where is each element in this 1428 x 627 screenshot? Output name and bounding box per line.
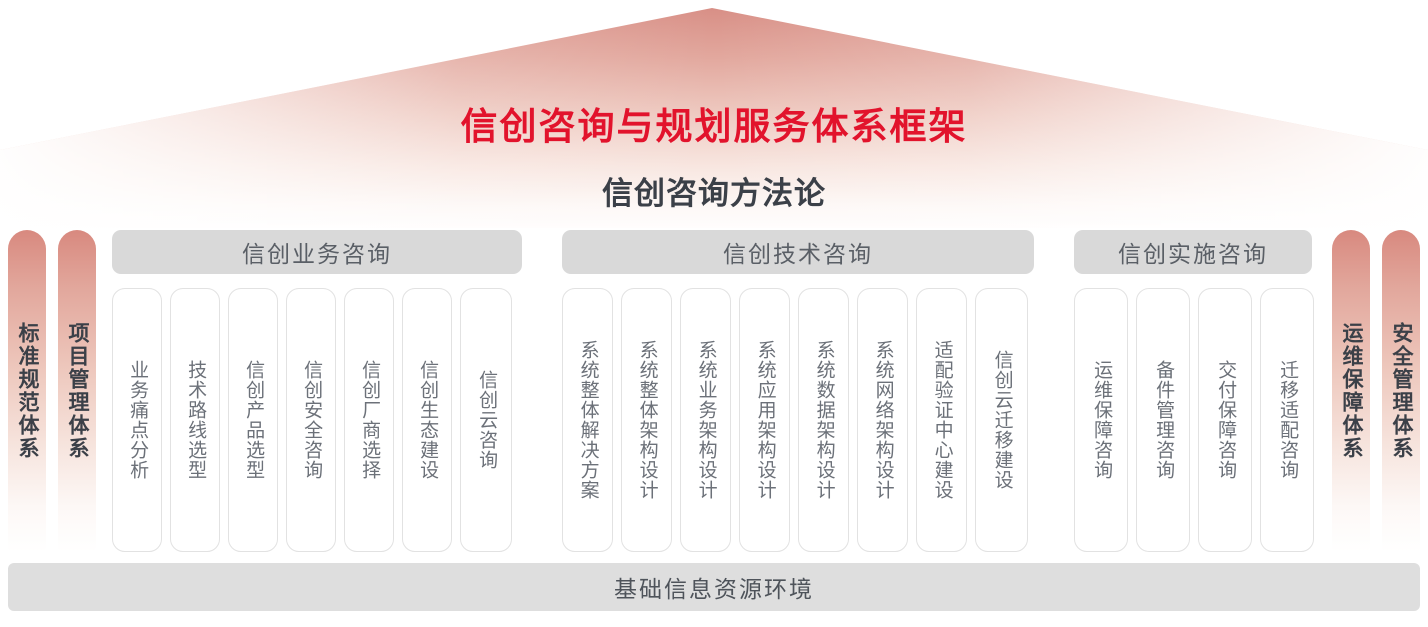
card-label: 系统数据架构设计: [813, 340, 833, 500]
card-label: 适配验证中心建设: [931, 340, 951, 500]
card-item[interactable]: 适配验证中心建设: [916, 288, 967, 552]
card-label: 信创云咨询: [476, 370, 496, 470]
card-item[interactable]: 系统应用架构设计: [739, 288, 790, 552]
card-label: 迁移适配咨询: [1277, 360, 1297, 480]
page-title: 信创咨询与规划服务体系框架: [0, 96, 1428, 150]
card-item[interactable]: 交付保障咨询: [1198, 288, 1252, 552]
group-technical-consulting: 信创技术咨询 系统整体解决方案 系统整体架构设计 系统业务架构设计 系统应用架构…: [562, 230, 1034, 274]
pillar-label: 标准规范体系: [16, 322, 38, 460]
group-header[interactable]: 信创实施咨询: [1074, 230, 1312, 274]
card-item[interactable]: 备件管理咨询: [1136, 288, 1190, 552]
card-label: 系统应用架构设计: [754, 340, 774, 500]
card-label: 系统网络架构设计: [872, 340, 892, 500]
pillar-label: 安全管理体系: [1390, 322, 1412, 460]
card-label: 信创产品选型: [243, 360, 263, 480]
page-subtitle: 信创咨询方法论: [0, 168, 1428, 213]
card-item[interactable]: 迁移适配咨询: [1260, 288, 1314, 552]
group-implementation-consulting: 信创实施咨询 运维保障咨询 备件管理咨询 交付保障咨询 迁移适配咨询: [1074, 230, 1312, 274]
group-business-consulting: 信创业务咨询 业务痛点分析 技术路线选型 信创产品选型 信创安全咨询 信创厂商选…: [112, 230, 522, 274]
pillar-label: 运维保障体系: [1340, 322, 1362, 460]
card-label: 备件管理咨询: [1153, 360, 1173, 480]
group-card-list: 运维保障咨询 备件管理咨询 交付保障咨询 迁移适配咨询: [1074, 288, 1314, 552]
card-item[interactable]: 系统业务架构设计: [680, 288, 731, 552]
card-label: 系统业务架构设计: [695, 340, 715, 500]
foundation-bar[interactable]: 基础信息资源环境: [8, 563, 1420, 611]
card-item[interactable]: 运维保障咨询: [1074, 288, 1128, 552]
card-item[interactable]: 信创安全咨询: [286, 288, 336, 552]
card-item[interactable]: 信创产品选型: [228, 288, 278, 552]
card-label: 技术路线选型: [185, 360, 205, 480]
card-item[interactable]: 系统整体架构设计: [621, 288, 672, 552]
card-item[interactable]: 系统整体解决方案: [562, 288, 613, 552]
card-label: 信创安全咨询: [301, 360, 321, 480]
pillar-ops-support[interactable]: 运维保障体系: [1332, 230, 1370, 552]
group-card-list: 业务痛点分析 技术路线选型 信创产品选型 信创安全咨询 信创厂商选择 信创生态建…: [112, 288, 512, 552]
card-label: 交付保障咨询: [1215, 360, 1235, 480]
card-label: 信创厂商选择: [359, 360, 379, 480]
card-item[interactable]: 技术路线选型: [170, 288, 220, 552]
pillar-label: 项目管理体系: [66, 322, 88, 460]
pillar-security-management[interactable]: 安全管理体系: [1382, 230, 1420, 552]
group-header[interactable]: 信创业务咨询: [112, 230, 522, 274]
card-label: 系统整体解决方案: [577, 340, 597, 500]
card-item[interactable]: 系统网络架构设计: [857, 288, 908, 552]
card-label: 信创云迁移建设: [991, 350, 1011, 490]
pillar-project-management[interactable]: 项目管理体系: [58, 230, 96, 552]
group-header[interactable]: 信创技术咨询: [562, 230, 1034, 274]
pillar-standard-spec[interactable]: 标准规范体系: [8, 230, 46, 552]
card-item[interactable]: 信创厂商选择: [344, 288, 394, 552]
card-label: 业务痛点分析: [127, 360, 147, 480]
card-label: 运维保障咨询: [1091, 360, 1111, 480]
card-label: 信创生态建设: [417, 360, 437, 480]
card-label: 系统整体架构设计: [636, 340, 656, 500]
card-item[interactable]: 系统数据架构设计: [798, 288, 849, 552]
architecture-diagram: 信创咨询与规划服务体系框架 信创咨询方法论 标准规范体系 项目管理体系 运维保障…: [0, 0, 1428, 627]
card-item[interactable]: 信创云咨询: [460, 288, 512, 552]
card-item[interactable]: 信创生态建设: [402, 288, 452, 552]
group-card-list: 系统整体解决方案 系统整体架构设计 系统业务架构设计 系统应用架构设计 系统数据…: [562, 288, 1028, 552]
card-item[interactable]: 信创云迁移建设: [975, 288, 1028, 552]
card-item[interactable]: 业务痛点分析: [112, 288, 162, 552]
